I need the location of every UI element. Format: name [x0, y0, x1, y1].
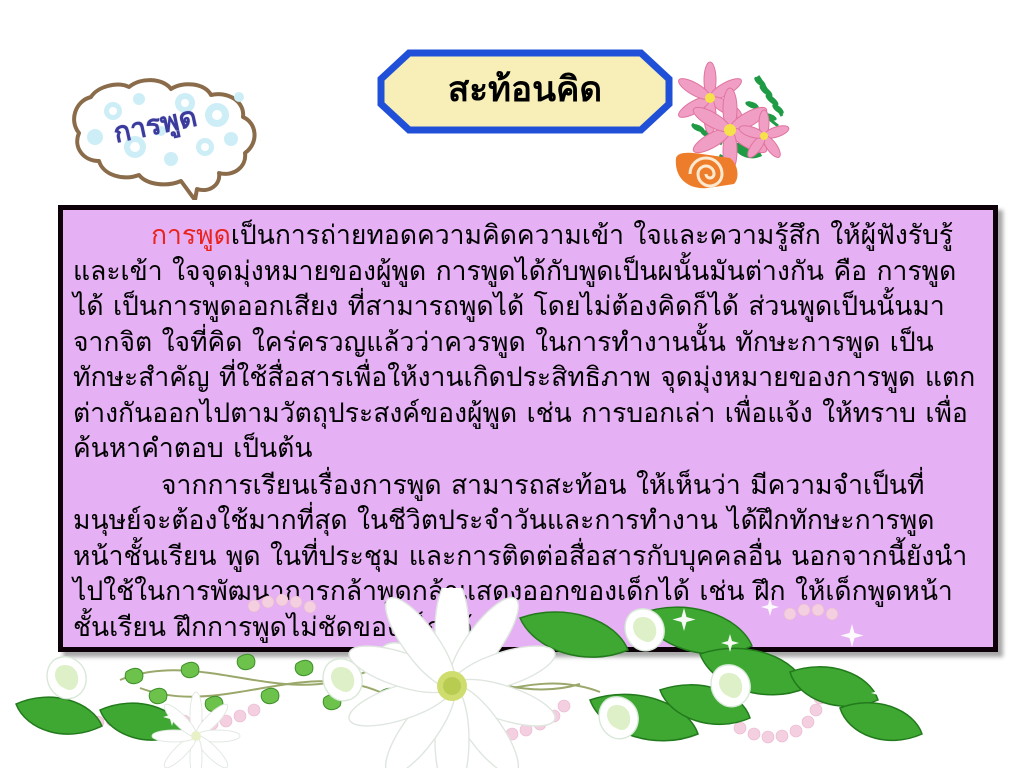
paragraph-1: การพูดเป็นการถ่ายทอดความคิดความเข้า ใจแล… — [73, 218, 981, 467]
content-box: การพูดเป็นการถ่ายทอดความคิดความเข้า ใจแล… — [58, 205, 998, 652]
paragraph-1-body: เป็นการถ่ายทอดความคิดความเข้า ใจและความร… — [73, 220, 975, 464]
title-banner: สะท้อนคิด — [377, 49, 673, 134]
pink-lily-bouquet-icon — [662, 58, 792, 200]
content-text: การพูดเป็นการถ่ายทอดความคิดความเข้า ใจแล… — [63, 210, 993, 645]
speech-bubble: การพูด — [68, 78, 268, 200]
page-title: สะท้อนคิด — [377, 49, 673, 134]
bottom-floral-decoration — [0, 588, 1024, 768]
highlight-keyword: การพูด — [151, 220, 231, 251]
